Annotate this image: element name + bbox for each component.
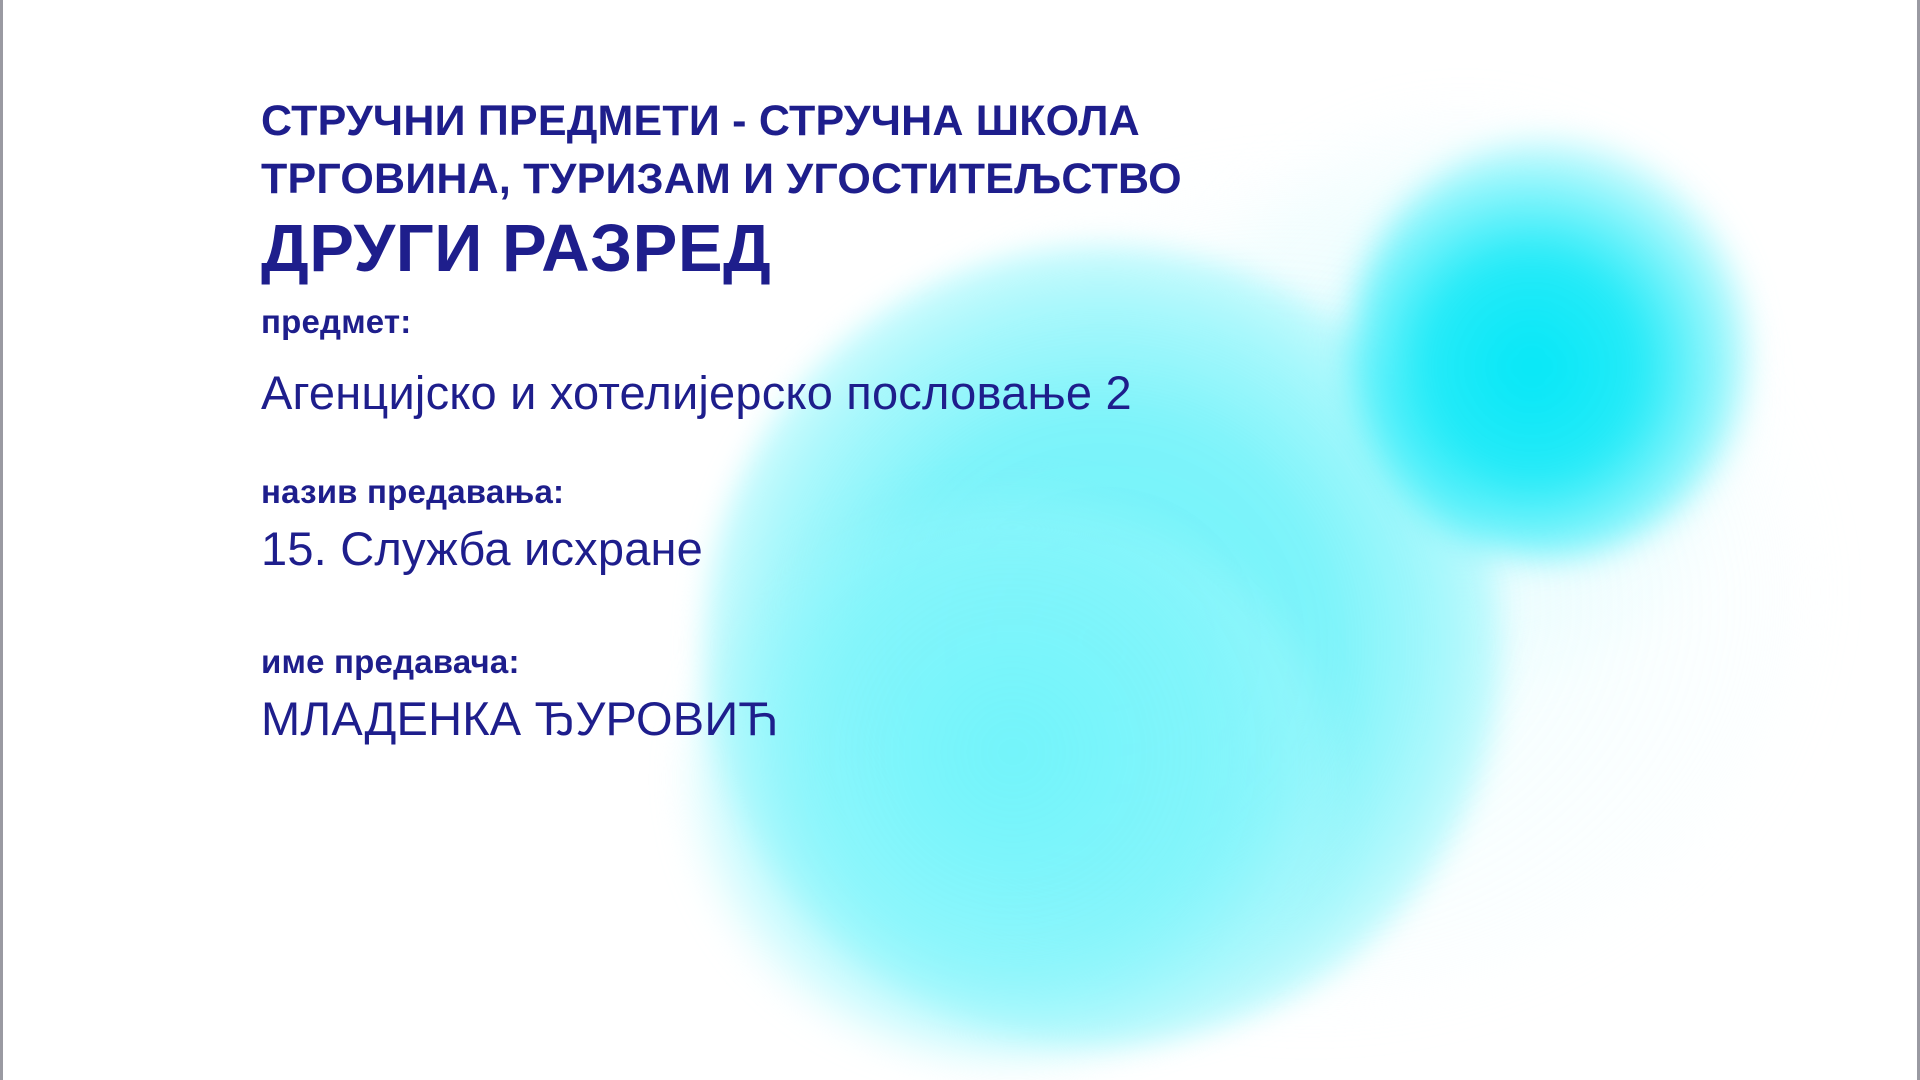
teacher-label: име предавача:	[261, 640, 1761, 684]
teacher-value: МЛАДЕНКА ЂУРОВИЋ	[261, 688, 1761, 750]
school-program-line-2: ТРГОВИНА, ТУРИЗАМ И УГОСТИТЕЉСТВО	[261, 150, 1761, 208]
school-program-line-1: СТРУЧНИ ПРЕДМЕТИ - СТРУЧНА ШКОЛА	[261, 92, 1761, 150]
lecture-title-card: СТРУЧНИ ПРЕДМЕТИ - СТРУЧНА ШКОЛА ТРГОВИН…	[0, 0, 1920, 1080]
lecture-value: 15. Служба исхране	[261, 518, 1761, 580]
subject-value: Агенцијско и хотелијерско пословање 2	[261, 362, 1761, 424]
grade-heading: ДРУГИ РАЗРЕД	[261, 206, 1761, 292]
title-card-content: СТРУЧНИ ПРЕДМЕТИ - СТРУЧНА ШКОЛА ТРГОВИН…	[261, 92, 1761, 750]
lecture-label: назив предавања:	[261, 470, 1761, 514]
subject-label: предмет:	[261, 300, 1761, 344]
